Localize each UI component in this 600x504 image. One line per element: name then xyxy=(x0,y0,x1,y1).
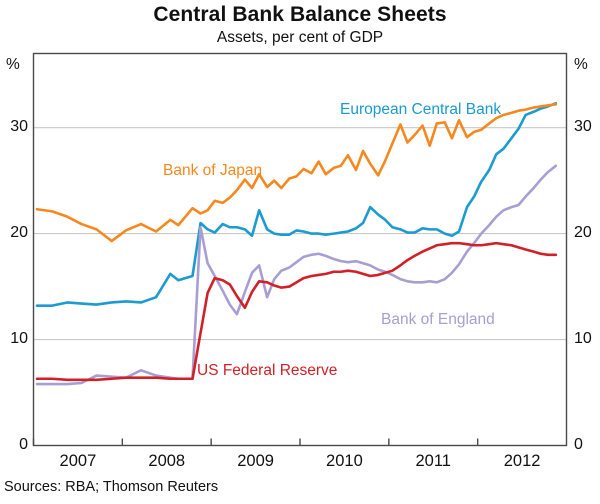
chart-container: Central Bank Balance Sheets Assets, per … xyxy=(0,0,600,504)
y-tick-label-right: 10 xyxy=(574,331,600,347)
sources-note: Sources: RBA; Thomson Reuters xyxy=(4,479,218,495)
chart-subtitle: Assets, per cent of GDP xyxy=(0,29,600,47)
y-tick-label-left: 0 xyxy=(0,437,28,453)
series-line-2 xyxy=(37,166,556,384)
series-label-1: Bank of Japan xyxy=(163,162,262,180)
x-tick-label: 2010 xyxy=(309,452,379,471)
y-tick-label-left: 10 xyxy=(0,331,28,347)
x-tick-label: 2012 xyxy=(487,452,557,471)
series-label-2: Bank of England xyxy=(381,311,495,329)
x-tick-label: 2009 xyxy=(221,452,291,471)
y-tick-label-right: 20 xyxy=(574,225,600,241)
y-tick-label-left: 30 xyxy=(0,119,28,135)
chart-title: Central Bank Balance Sheets xyxy=(0,3,600,27)
y-axis-unit-right: % xyxy=(574,56,588,74)
series-line-1 xyxy=(37,104,556,241)
plot-area xyxy=(0,0,600,504)
y-tick-label-left: 20 xyxy=(0,225,28,241)
x-tick-label: 2007 xyxy=(43,452,113,471)
y-tick-label-right: 0 xyxy=(574,437,600,453)
x-tick-label: 2011 xyxy=(398,452,468,471)
y-tick-label-right: 30 xyxy=(574,119,600,135)
series-label-0: European Central Bank xyxy=(340,101,501,119)
y-axis-unit-left: % xyxy=(6,56,20,74)
series-label-3: US Federal Reserve xyxy=(197,362,337,380)
x-tick-label: 2008 xyxy=(132,452,202,471)
series-line-0 xyxy=(37,103,556,305)
